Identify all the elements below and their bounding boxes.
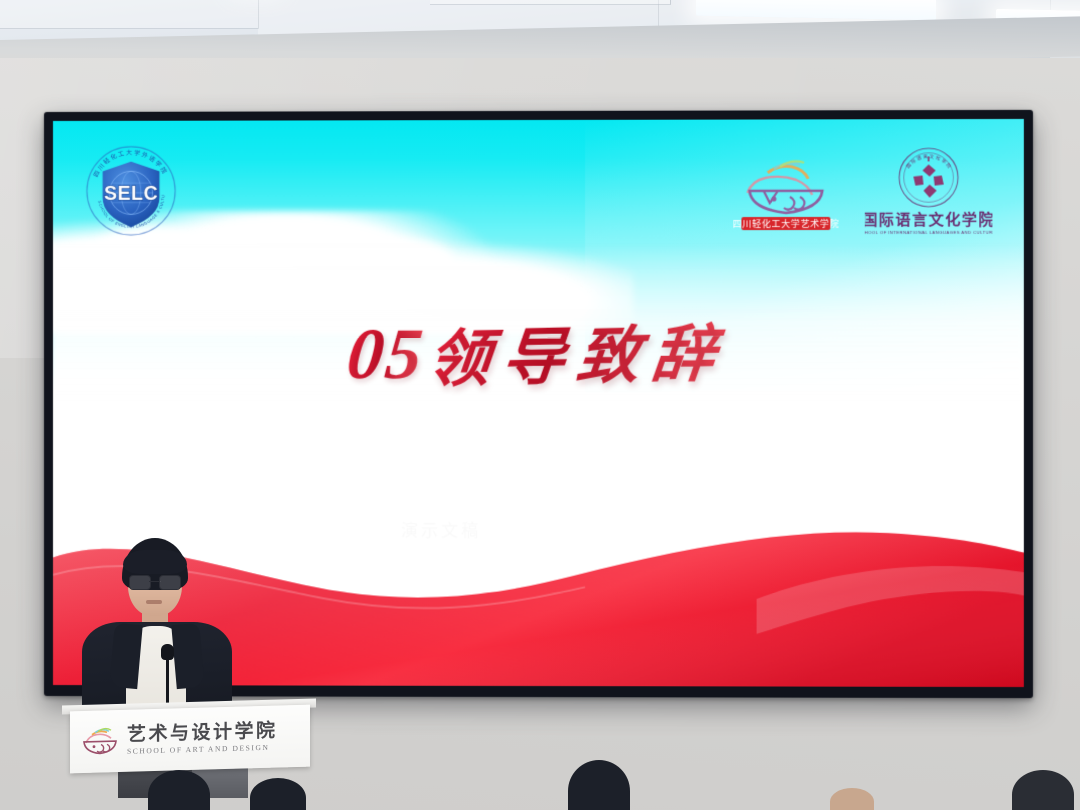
presenter-lapel-right [171,623,204,689]
svg-text:SELC: SELC [104,182,158,204]
art-school-logo-icon: 四川轻化工大学艺术学院 [734,145,839,238]
presenter-lapel-left [109,623,142,689]
audience-head-2 [250,778,306,810]
podium-emblem-icon [80,724,120,759]
slide-logo-group-right: 四川轻化工大学艺术学院 国际语言文化学院 [734,145,993,240]
presenter-fringe [123,550,187,574]
presenter [72,538,242,728]
silc-logo-icon: 国际语言文化学院 国际语言文化学院 SCHOOL OF INTERNATIONA… [865,145,993,240]
silc-caption-cn: 国际语言文化学院 [865,211,993,229]
silc-caption-en: SCHOOL OF INTERNATIONAL LANGUAGES AND CU… [865,230,993,235]
podium-sign-text: 艺术与设计学院 SCHOOL OF ART AND DESIGN [127,722,278,756]
slide-title-block: 05 领导致辞 [53,306,1024,394]
lecture-hall-scene: 四川轻化工大学外语学院 SCHOOL OF ENGLISH LANGUAGE &… [0,0,1080,810]
podium-sign-en: SCHOOL OF ART AND DESIGN [127,744,278,756]
presenter-glasses-icon [129,575,181,588]
microphone-icon [161,644,174,660]
audience-head-4 [830,788,874,810]
section-title: 领导致辞 [424,320,730,398]
presenter-mouth [146,600,162,604]
podium-sign-cn: 艺术与设计学院 [127,722,278,746]
selc-shield-icon: 四川轻化工大学外语学院 SCHOOL OF ENGLISH LANGUAGE &… [82,143,180,237]
section-number: 05 [344,318,428,390]
podium-sign: 艺术与设计学院 SCHOOL OF ART AND DESIGN [70,705,310,774]
art-logo-caption: 四川轻化工大学艺术学院 [734,218,839,229]
